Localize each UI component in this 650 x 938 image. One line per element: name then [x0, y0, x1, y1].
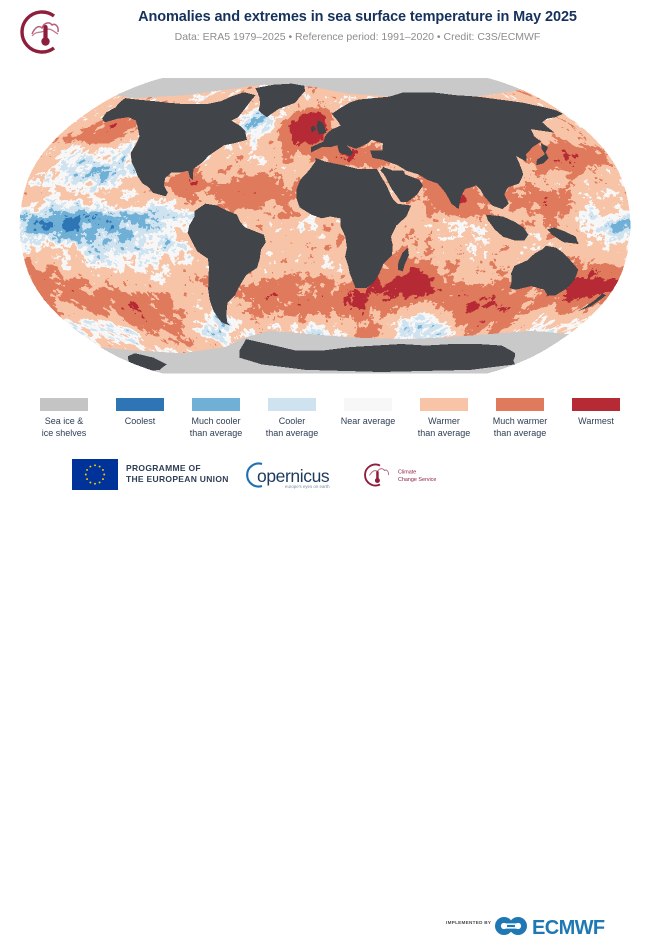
legend-swatch-warmest: [572, 398, 619, 411]
implemented-by-label: IMPLEMENTED BY: [446, 920, 491, 925]
legend-item-warmer: Warmer than average: [406, 398, 482, 439]
legend-label-sea-ice: Sea ice & ice shelves: [26, 416, 102, 439]
legend-item-warmest: Warmest: [558, 398, 634, 428]
header: Anomalies and extremes in sea surface te…: [0, 0, 650, 60]
footer: PROGRAMME OF THE EUROPEAN UNION opernicu…: [0, 452, 650, 495]
legend-label-coolest: Coolest: [102, 416, 178, 428]
legend-swatch-near-average: [344, 398, 391, 411]
c3s-thermometer-icon: [10, 8, 72, 56]
sst-anomaly-map: [0, 58, 650, 390]
legend-label-near-average: Near average: [330, 416, 406, 428]
ecmwf-logo: ECMWF: [492, 914, 642, 938]
eu-programme-line2: THE EUROPEAN UNION: [126, 474, 229, 485]
page-subtitle: Data: ERA5 1979–2025 • Reference period:…: [75, 30, 640, 44]
legend: Sea ice & ice shelvesCoolestMuch cooler …: [0, 398, 650, 448]
legend-swatch-cooler: [268, 398, 315, 411]
copernicus-wordmark: opernicus: [257, 466, 330, 486]
page-title: Anomalies and extremes in sea surface te…: [75, 8, 640, 26]
c3s-footer-logo: Climate Change Service: [358, 461, 458, 489]
c3s-line1: Climate: [398, 470, 416, 476]
eu-flag-icon: [72, 459, 118, 490]
legend-item-coolest: Coolest: [102, 398, 178, 428]
copernicus-logo: opernicus europe's eyes on earth: [245, 460, 353, 490]
c3s-line2: Change Service: [398, 477, 436, 483]
eu-programme-line1: PROGRAMME OF: [126, 463, 229, 474]
copernicus-tagline: europe's eyes on earth: [285, 484, 330, 489]
legend-swatch-much-cooler: [192, 398, 239, 411]
legend-swatch-coolest: [116, 398, 163, 411]
legend-swatch-warmer: [420, 398, 467, 411]
eu-programme-label: PROGRAMME OF THE EUROPEAN UNION: [126, 463, 229, 484]
legend-item-cooler: Cooler than average: [254, 398, 330, 439]
legend-item-much-cooler: Much cooler than average: [178, 398, 254, 439]
legend-item-much-warmer: Much warmer than average: [482, 398, 558, 439]
legend-label-much-cooler: Much cooler than average: [178, 416, 254, 439]
map-canvas: [0, 58, 650, 390]
legend-item-near-average: Near average: [330, 398, 406, 428]
legend-label-cooler: Cooler than average: [254, 416, 330, 439]
legend-swatch-much-warmer: [496, 398, 543, 411]
legend-label-warmer: Warmer than average: [406, 416, 482, 439]
legend-label-much-warmer: Much warmer than average: [482, 416, 558, 439]
ecmwf-wordmark: ECMWF: [532, 917, 605, 938]
legend-label-warmest: Warmest: [558, 416, 634, 428]
legend-swatch-sea-ice: [40, 398, 87, 411]
legend-item-sea-ice: Sea ice & ice shelves: [26, 398, 102, 439]
